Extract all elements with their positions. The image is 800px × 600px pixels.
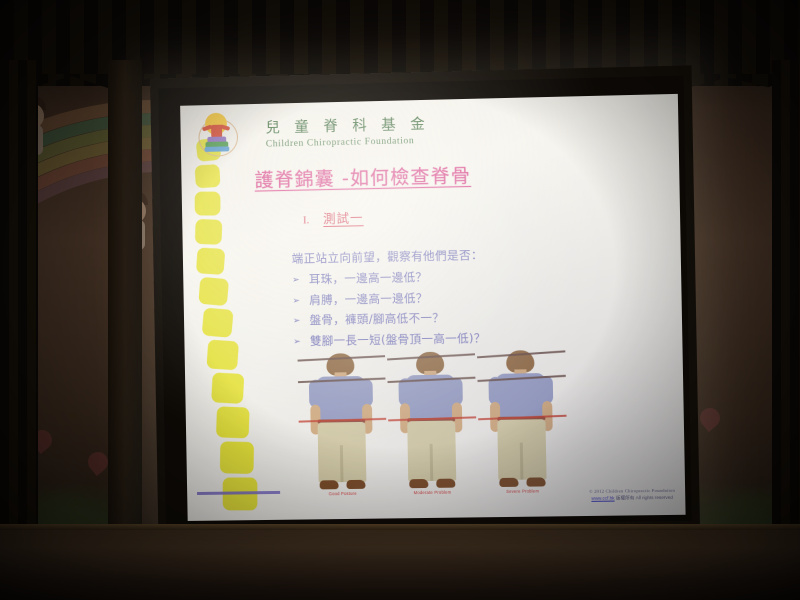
list-item-label: 雙腳一長一短(盤骨頂一高一低)？ (310, 329, 486, 348)
section-number: I. (303, 214, 310, 226)
list-item: ➢ 雙腳一長一短(盤骨頂一高一低)？ (293, 329, 486, 348)
spine-vertebrae-graphic (180, 104, 265, 521)
brand-name-english: Children Chiropractic Foundation (266, 135, 430, 150)
stage-curtain-left (0, 60, 38, 530)
hall-pillar (108, 60, 142, 530)
stage-curtain-right (772, 60, 800, 530)
brand-block: 兒 童 脊 科 基 金 Children Chiropractic Founda… (265, 113, 430, 150)
stage-floor (0, 530, 800, 600)
list-item: ➢ 肩膊，一邊高一邊低？ (292, 288, 485, 308)
posture-figure: Moderate Problem (393, 347, 470, 498)
presentation-slide: 兒 童 脊 科 基 金 Children Chiropractic Founda… (180, 94, 685, 521)
posture-figure: Good Posture (303, 349, 379, 500)
projection-screen: 兒 童 脊 科 基 金 Children Chiropractic Founda… (158, 76, 692, 528)
projection-screen-frame: 兒 童 脊 科 基 金 Children Chiropractic Founda… (150, 65, 700, 537)
figure-caption: Good Posture (306, 491, 380, 497)
footer-rule (197, 491, 280, 495)
foundation-logo-icon (194, 112, 240, 159)
list-item-label: 肩膊，一邊高一邊低？ (309, 289, 428, 307)
posture-figure: Severe Problem (483, 346, 560, 498)
slide-title: 護脊錦囊 -如何檢查脊骨 (254, 161, 471, 193)
brand-name-chinese: 兒 童 脊 科 基 金 (265, 113, 430, 138)
bullet-arrow-icon: ➢ (293, 316, 301, 326)
mural-bee (68, 412, 78, 419)
bullet-arrow-icon: ➢ (293, 337, 301, 347)
section-label: 測試一 (323, 207, 364, 227)
photo-scene: 兒 童 脊 科 基 金 Children Chiropractic Founda… (0, 0, 800, 600)
figure-caption: Moderate Problem (395, 489, 469, 495)
rights-text: 版權所有 All rights reserved (616, 495, 673, 501)
checklist: ➢ 耳珠，一邊高一邊低？ ➢ 肩膊，一邊高一邊低？ ➢ 盤骨，褲頭/腳高低不一？ (292, 268, 486, 349)
list-item: ➢ 耳珠，一邊高一邊低？ (292, 268, 485, 288)
slide-body: 端正站立向前望，觀察有他們是否： ➢ 耳珠，一邊高一邊低？ ➢ 肩膊，一邊高一邊… (292, 247, 486, 349)
list-item-label: 盤骨，褲頭/腳高低不一？ (309, 310, 444, 328)
copyright-text: © 2012 Children Chiropractic Foundation (589, 488, 675, 494)
slide-footer: © 2012 Children Chiropractic Foundation … (589, 488, 675, 502)
figure-caption: Severe Problem (485, 488, 559, 494)
footer-link-line: www.ccf.hk 版權所有 All rights reserved (589, 495, 675, 502)
posture-illustration-group: Good Posture Moderate Problem (301, 346, 566, 500)
body-lead-text: 端正站立向前望，觀察有他們是否： (292, 247, 485, 267)
bullet-arrow-icon: ➢ (292, 275, 300, 285)
website-url-link[interactable]: www.ccf.hk (591, 496, 614, 501)
list-item-label: 耳珠，一邊高一邊低？ (309, 269, 428, 287)
section-heading: I. 測試一 (303, 207, 364, 227)
list-item: ➢ 盤骨，褲頭/腳高低不一？ (293, 309, 486, 328)
bullet-arrow-icon: ➢ (292, 296, 300, 306)
